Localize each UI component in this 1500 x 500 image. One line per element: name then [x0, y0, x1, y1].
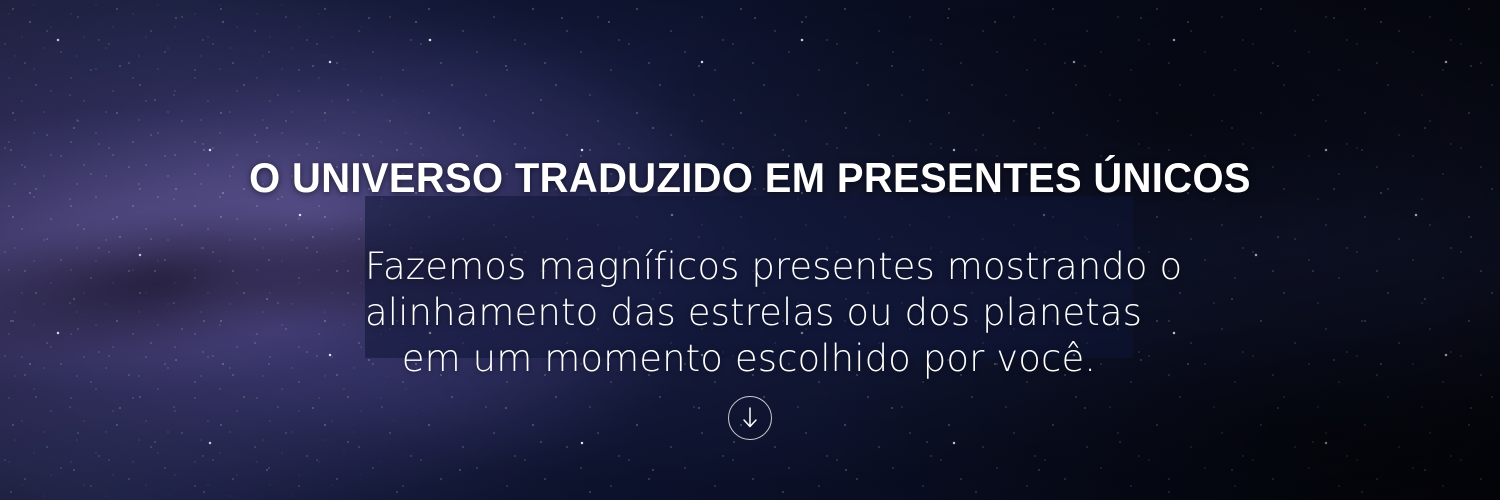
hero-banner: O UNIVERSO TRADUZIDO EM PRESENTES ÚNICOS…	[0, 0, 1500, 500]
subcopy-line-2: alinhamento das estrelas ou dos planetas	[365, 290, 1133, 336]
subcopy-line-3: em um momento escolhido por você.	[365, 336, 1133, 382]
hero-headline: O UNIVERSO TRADUZIDO EM PRESENTES ÚNICOS	[38, 155, 1463, 201]
subcopy-line-1: Fazemos magníficos presentes mostrando o	[365, 244, 1133, 290]
hero-content: O UNIVERSO TRADUZIDO EM PRESENTES ÚNICOS…	[0, 0, 1500, 500]
hero-subcopy: Fazemos magníficos presentes mostrando o…	[365, 244, 1133, 382]
scroll-down-button[interactable]	[728, 396, 772, 440]
arrow-down-icon	[739, 405, 761, 431]
